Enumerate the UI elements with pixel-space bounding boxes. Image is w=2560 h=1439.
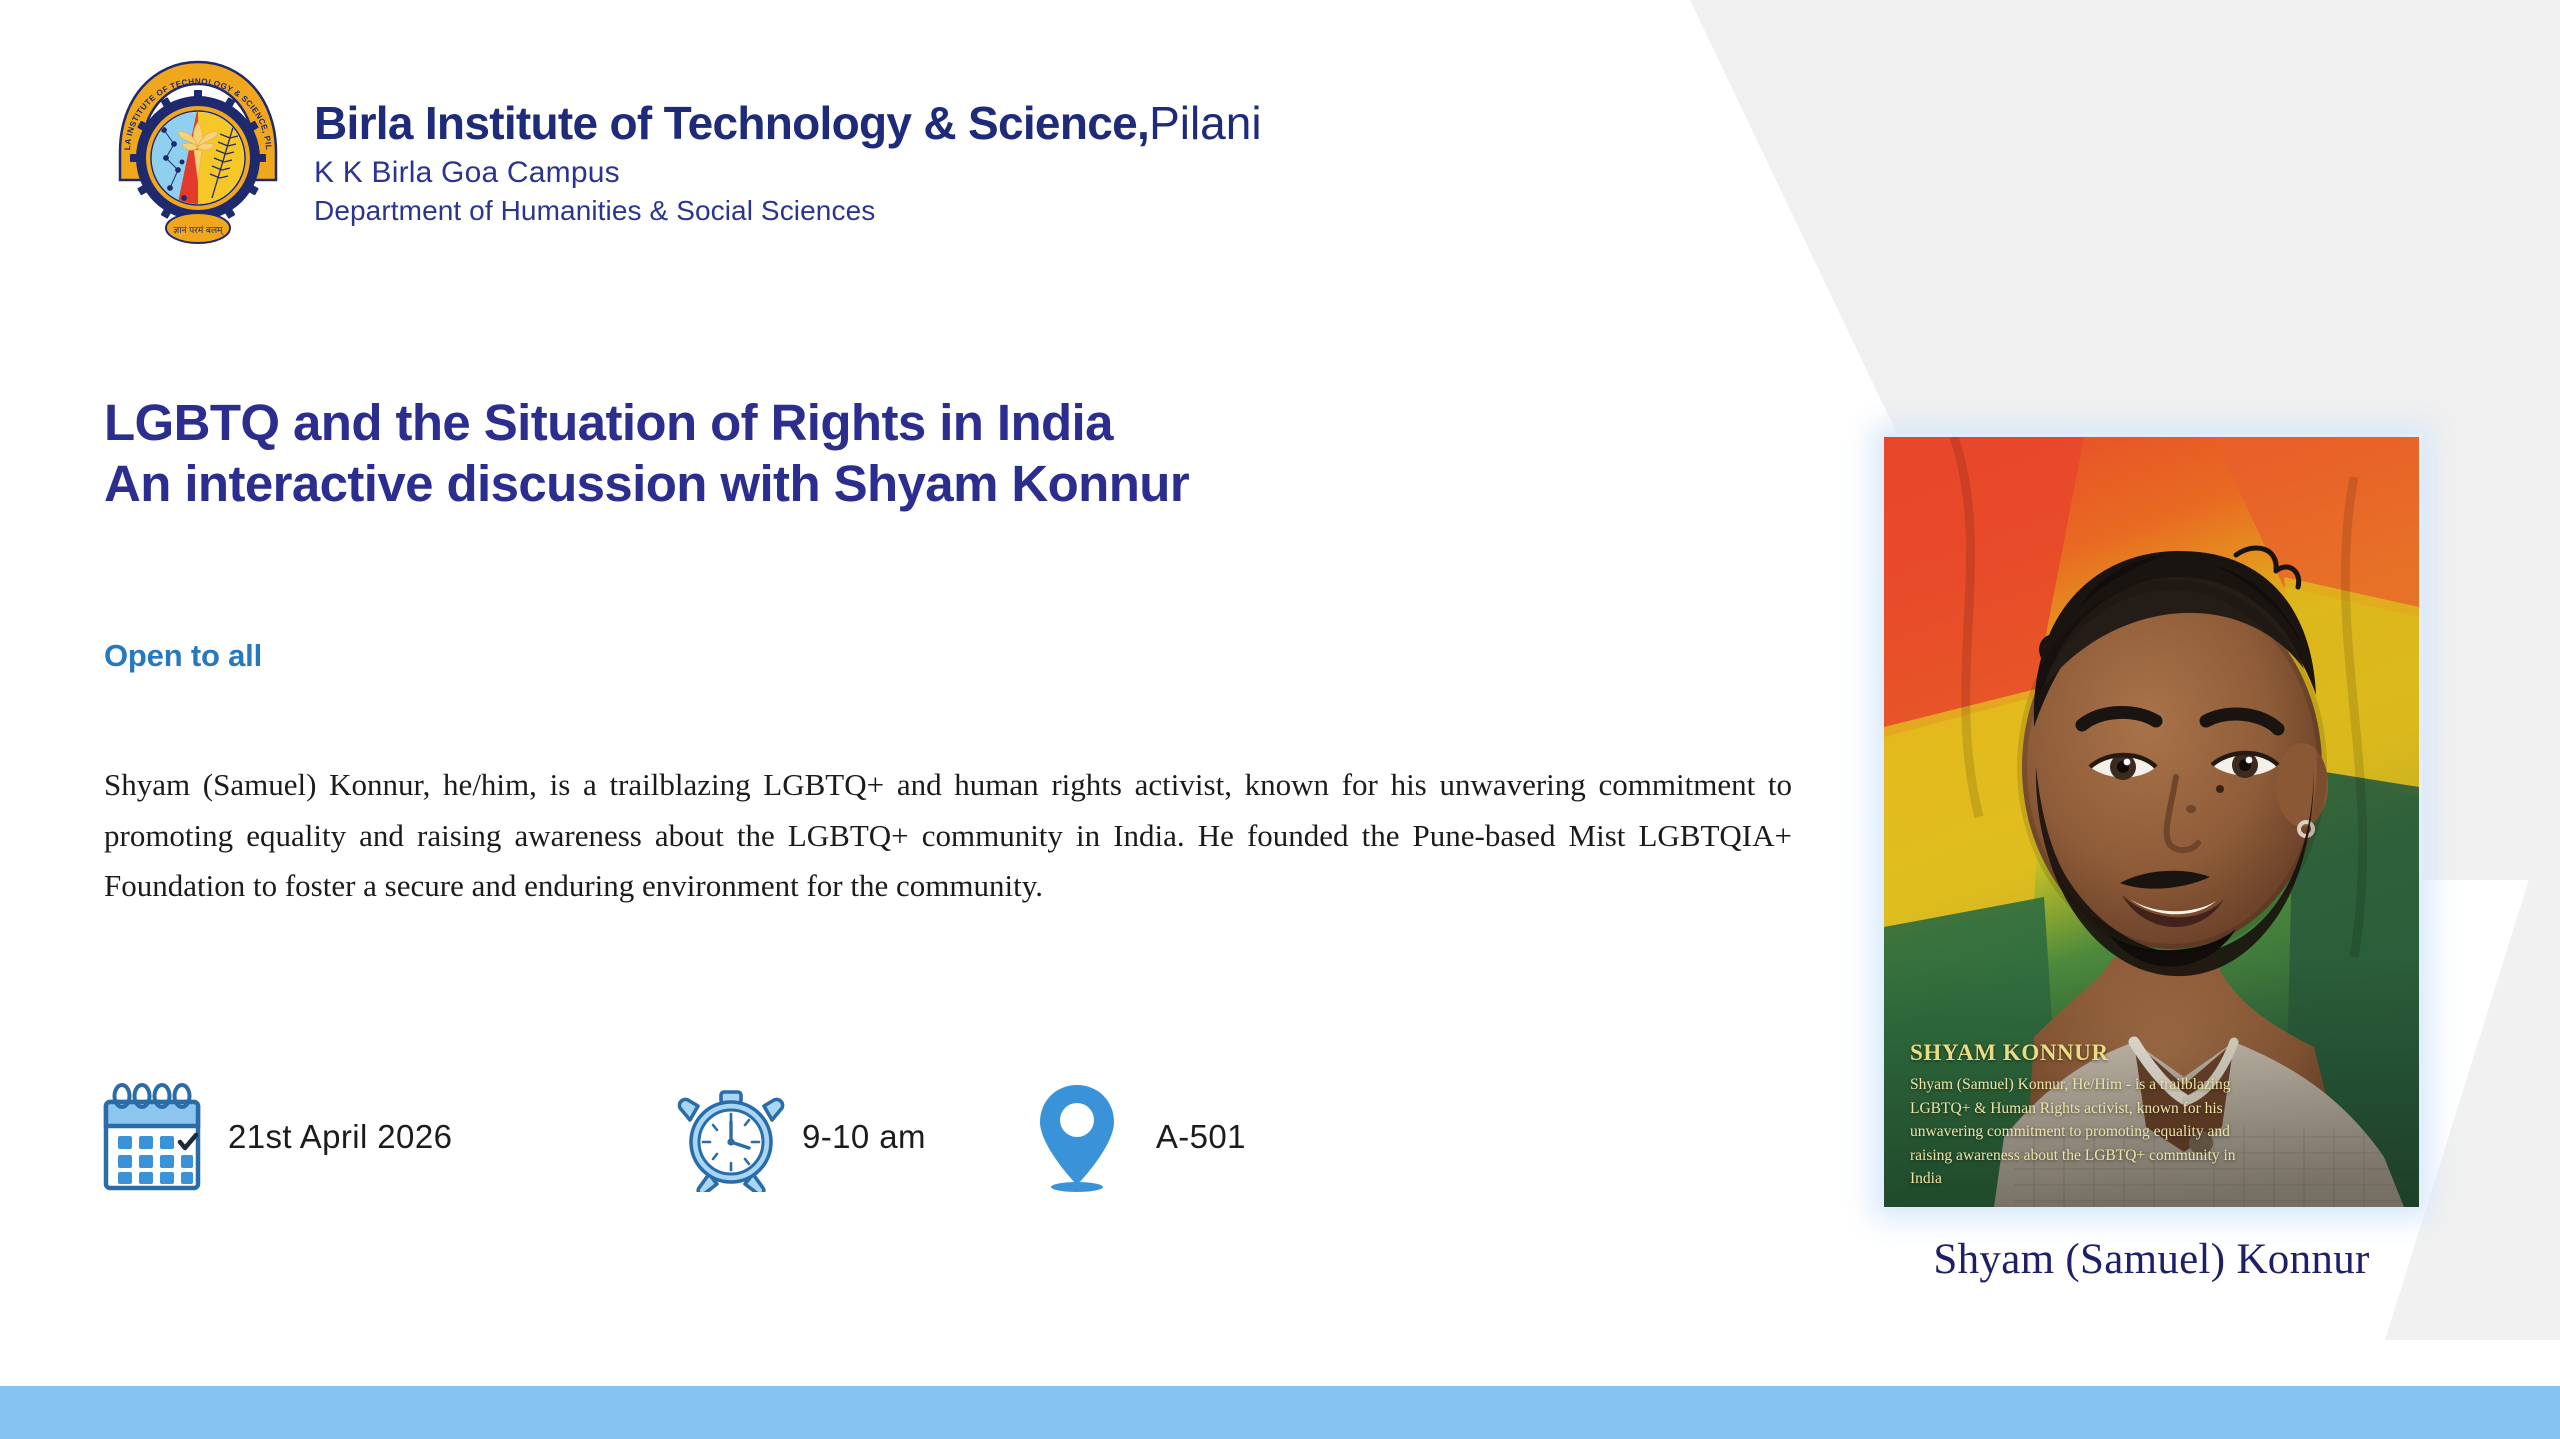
alarm-clock-icon xyxy=(676,1082,786,1192)
open-to-all-badge: Open to all xyxy=(104,638,262,674)
detail-date-label: 21st April 2026 xyxy=(228,1118,452,1156)
detail-venue: A-501 xyxy=(1034,1081,1246,1193)
event-title-line-1: LGBTQ and the Situation of Rights in Ind… xyxy=(104,393,1864,454)
page-title: LGBTQ and the Situation of Rights in Ind… xyxy=(104,393,1864,514)
photo-caption-overlay: SHYAM KONNUR Shyam (Samuel) Konnur, He/H… xyxy=(1884,1025,2419,1207)
detail-time: 9-10 am xyxy=(676,1082,926,1192)
speaker-name-caption: Shyam (Samuel) Konnur xyxy=(1884,1235,2419,1284)
photo-overlay-name: SHYAM KONNUR xyxy=(1910,1039,2397,1067)
department-name: Department of Humanities & Social Scienc… xyxy=(314,196,1262,225)
bits-pilani-emblem-icon: BIRLA INSTITUTE OF TECHNOLOGY & SCIENCE,… xyxy=(108,48,288,248)
location-pin-icon xyxy=(1034,1081,1120,1193)
event-details-row: 21st April 2026 xyxy=(98,1078,1246,1196)
campus-name: K K Birla Goa Campus xyxy=(314,157,1262,189)
institute-name-pilani: Pilani xyxy=(1149,97,1262,149)
detail-time-label: 9-10 am xyxy=(802,1118,926,1156)
institute-name: Birla Institute of Technology & Science,… xyxy=(314,100,1262,147)
speaker-photo: SHYAM KONNUR Shyam (Samuel) Konnur, He/H… xyxy=(1884,437,2419,1207)
emblem-motto-text: ज्ञानं परमं बलम् xyxy=(174,225,225,236)
calendar-icon xyxy=(98,1078,206,1196)
letterhead: BIRLA INSTITUTE OF TECHNOLOGY & SCIENCE,… xyxy=(108,48,1262,248)
photo-overlay-bio: Shyam (Samuel) Konnur, He/Him - is a tra… xyxy=(1910,1073,2245,1191)
letterhead-text-block: Birla Institute of Technology & Science,… xyxy=(314,48,1262,226)
speaker-card: SHYAM KONNUR Shyam (Samuel) Konnur, He/H… xyxy=(1884,437,2419,1284)
institute-name-main: Birla Institute of Technology & Science, xyxy=(314,97,1149,149)
speaker-bio-paragraph: Shyam (Samuel) Konnur, he/him, is a trai… xyxy=(104,760,1792,912)
detail-venue-label: A-501 xyxy=(1156,1118,1246,1156)
footer-blue-bar xyxy=(0,1386,2560,1439)
event-title-line-2: An interactive discussion with Shyam Kon… xyxy=(104,454,1864,515)
